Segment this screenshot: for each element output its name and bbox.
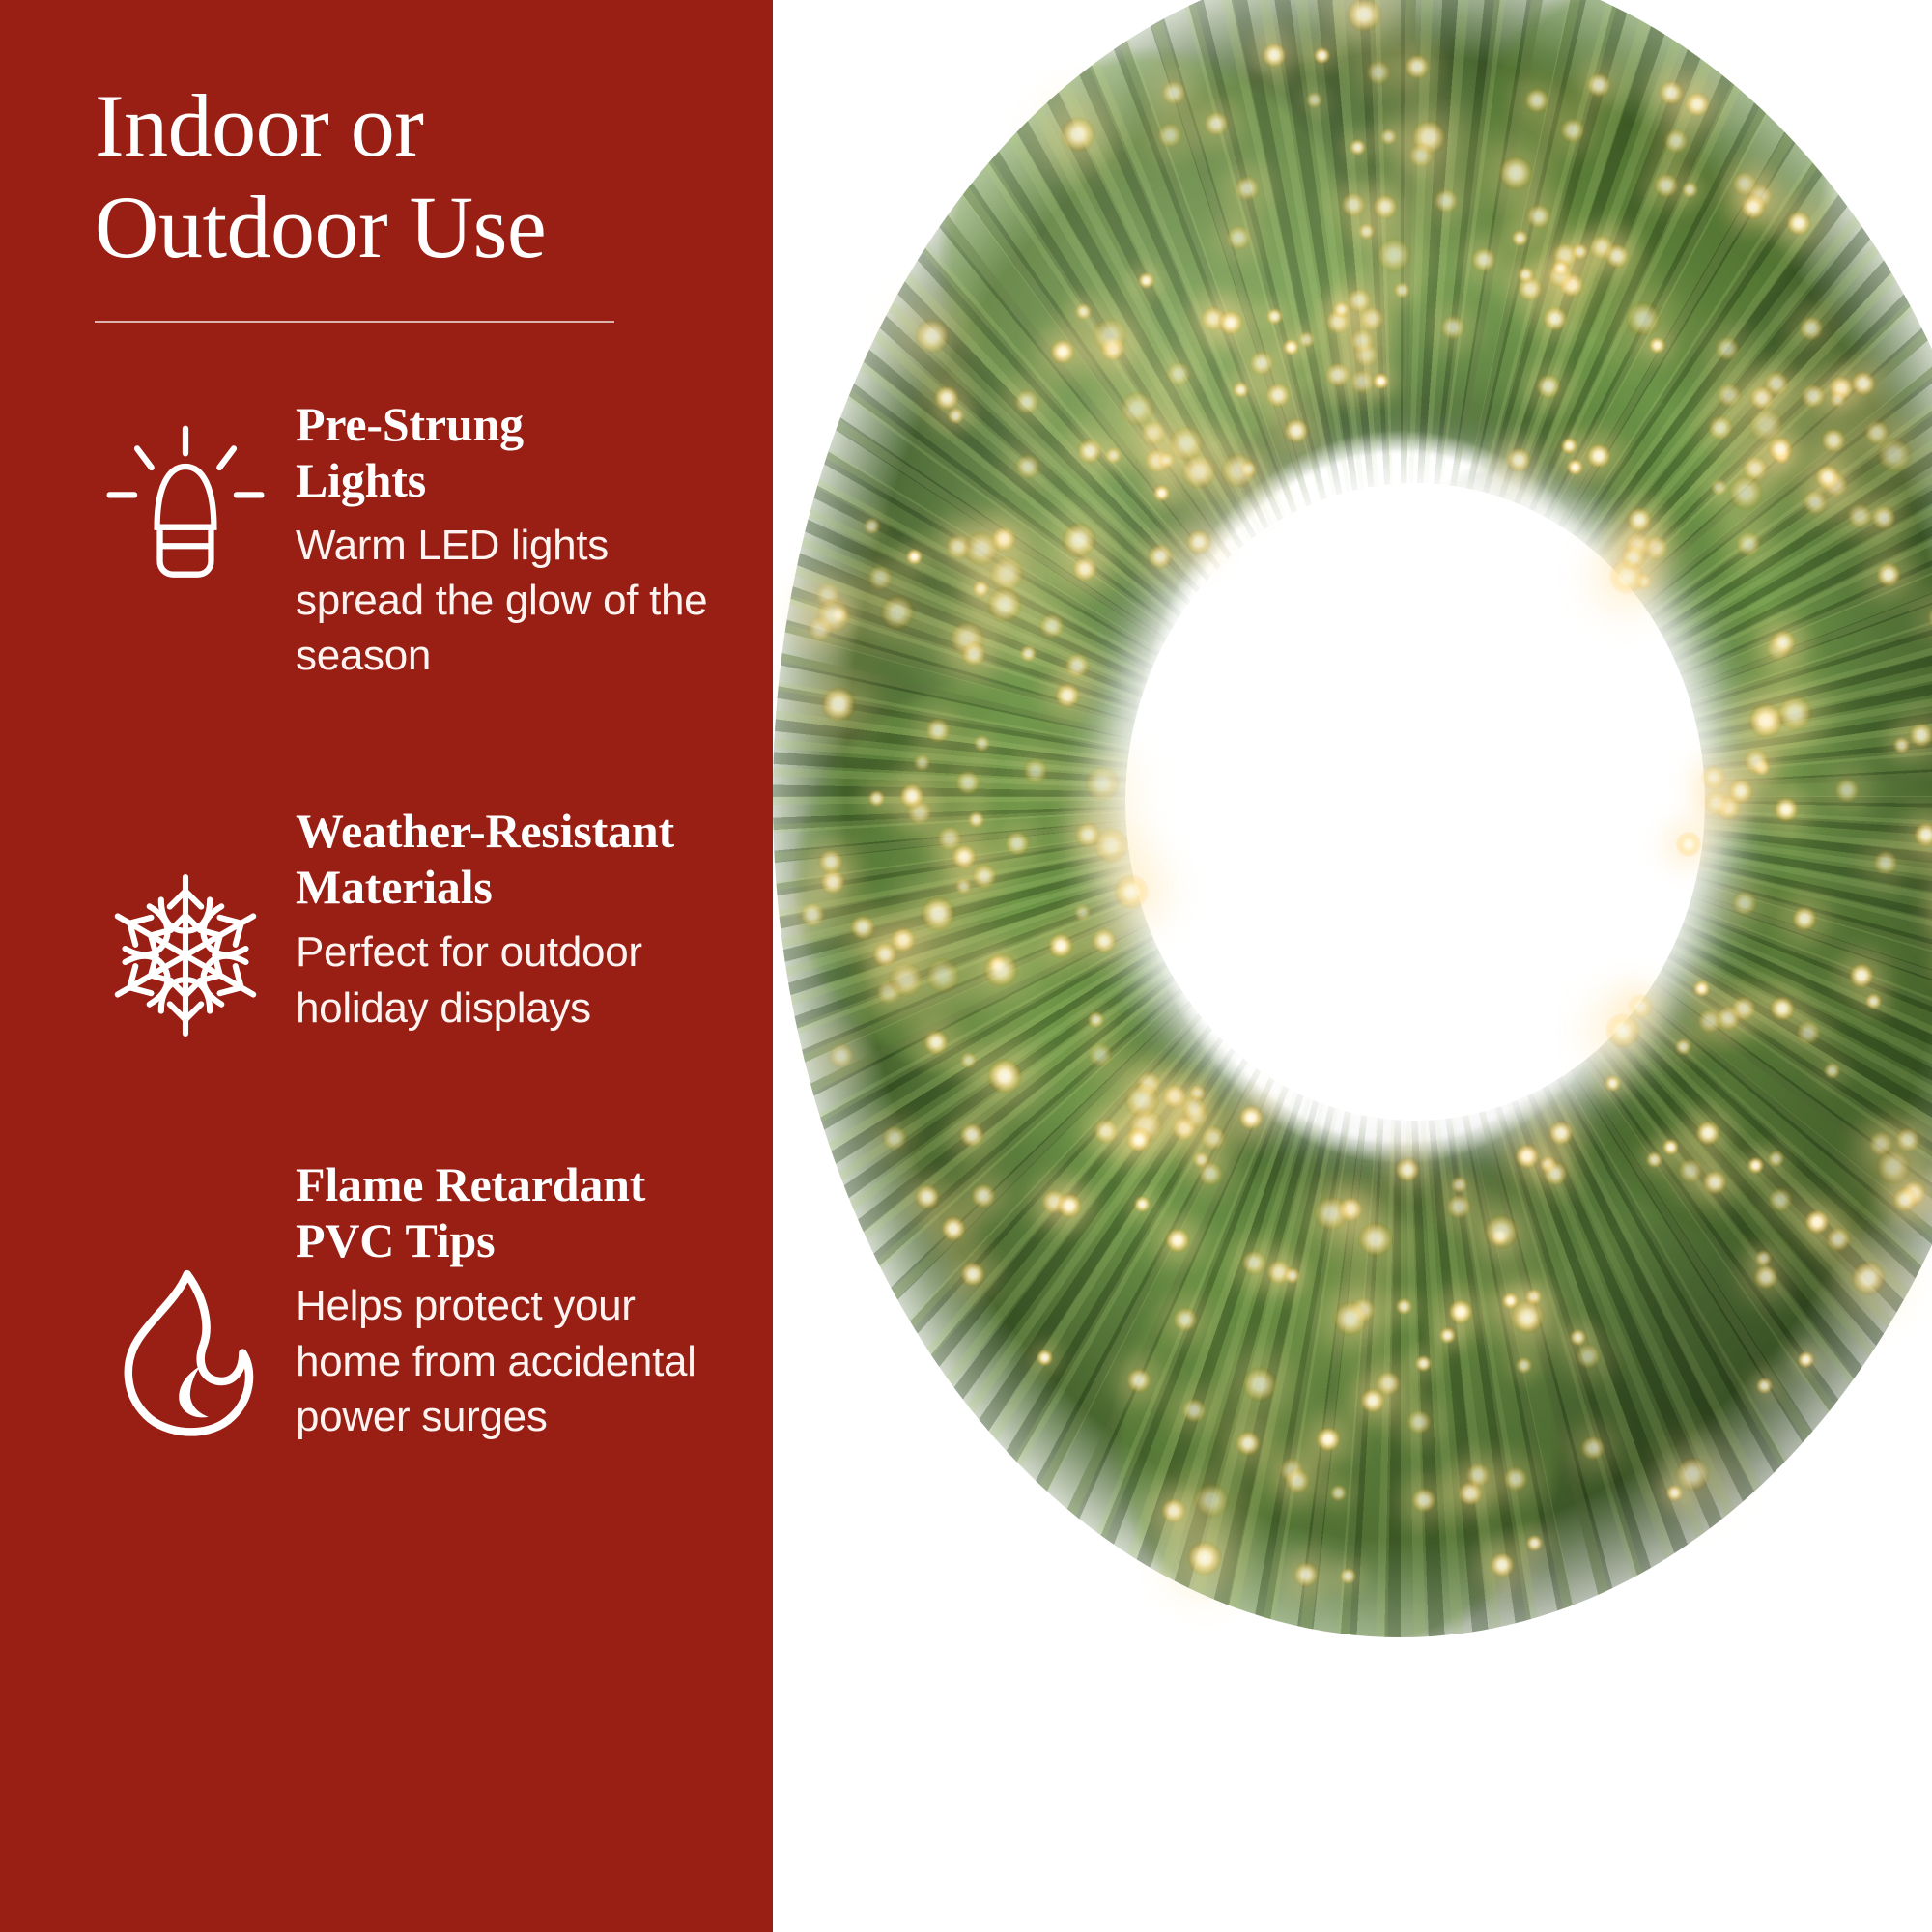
feature-icon-cell — [75, 1156, 296, 1448]
feature-description: Helps protect your home from accidental … — [296, 1278, 732, 1444]
feature-list: Pre-StrungLights Warm LED lights spread … — [0, 379, 773, 1449]
page-title-line1: Indoor or — [95, 76, 423, 175]
feature-heading-line1: Pre-Strung — [296, 397, 524, 451]
infographic-page: Indoor orOutdoor Use — [0, 0, 1932, 1932]
feature-item-flame-retardant-pvc-tips: Flame RetardantPVC Tips Helps protect yo… — [0, 1156, 773, 1448]
feature-text-cell: Flame RetardantPVC Tips Helps protect yo… — [296, 1156, 773, 1444]
page-title: Indoor orOutdoor Use — [0, 75, 773, 278]
page-title-line2: Outdoor Use — [95, 178, 546, 276]
feature-heading-line2: PVC Tips — [296, 1213, 495, 1267]
feature-heading-line1: Weather-Resistant — [296, 804, 674, 858]
feature-item-pre-strung-lights: Pre-StrungLights Warm LED lights spread … — [0, 396, 773, 684]
light-bulb-icon — [91, 417, 280, 607]
feature-heading-line2: Lights — [296, 453, 426, 507]
feature-text-cell: Pre-StrungLights Warm LED lights spread … — [296, 396, 773, 684]
feature-description: Warm LED lights spread the glow of the s… — [296, 518, 732, 684]
feature-icon-cell — [75, 803, 296, 1042]
feature-heading-line2: Materials — [296, 860, 493, 914]
feature-description: Perfect for outdoor holiday displays — [296, 924, 732, 1035]
feature-heading: Flame RetardantPVC Tips — [296, 1156, 732, 1268]
feature-heading: Pre-StrungLights — [296, 396, 732, 508]
feature-panel: Indoor orOutdoor Use — [0, 0, 773, 1932]
feature-text-cell: Weather-ResistantMaterials Perfect for o… — [296, 803, 773, 1035]
feature-item-weather-resistant-materials: Weather-ResistantMaterials Perfect for o… — [0, 803, 773, 1042]
snowflake-icon — [99, 868, 272, 1042]
feature-icon-cell — [75, 396, 296, 607]
flame-icon — [103, 1264, 268, 1448]
title-divider — [95, 321, 614, 323]
wreath-string-lights — [773, 0, 1932, 1932]
feature-heading: Weather-ResistantMaterials — [296, 803, 732, 915]
product-image-panel — [773, 0, 1932, 1932]
pre-lit-evergreen-wreath-photo — [773, 0, 1932, 1932]
feature-heading-line1: Flame Retardant — [296, 1157, 645, 1211]
